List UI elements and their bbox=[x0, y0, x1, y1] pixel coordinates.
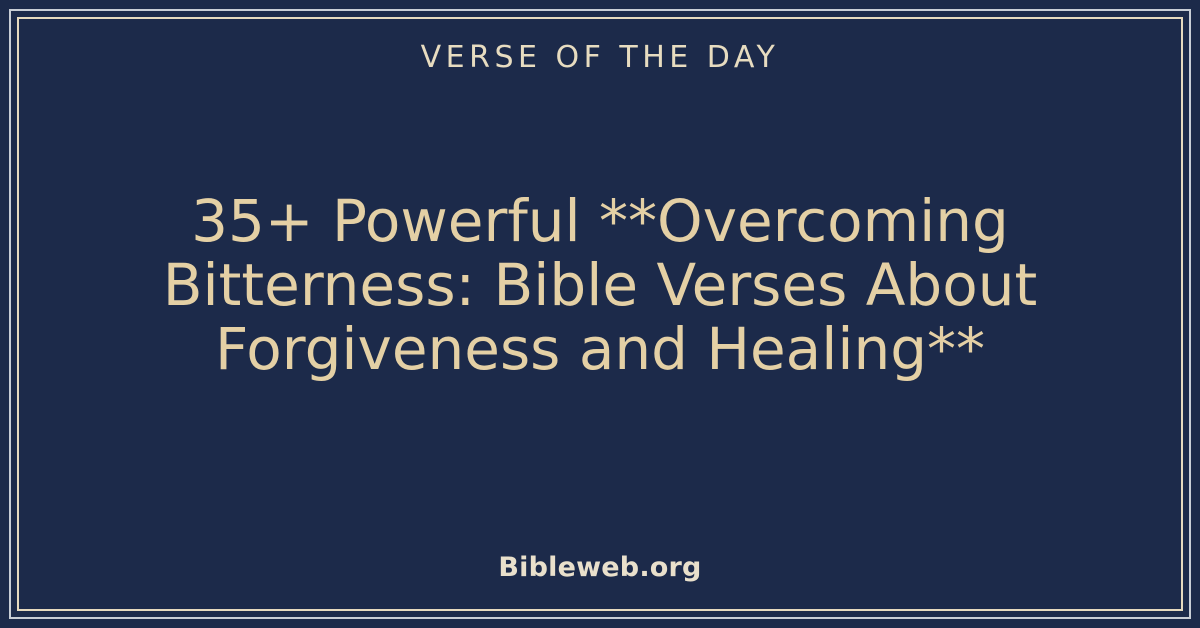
eyebrow-label: VERSE OF THE DAY bbox=[421, 43, 780, 73]
title-container: 35+ Powerful **Overcoming Bitterness: Bi… bbox=[19, 73, 1181, 554]
verse-of-the-day-card: VERSE OF THE DAY 35+ Powerful **Overcomi… bbox=[0, 0, 1200, 628]
site-attribution: Bibleweb.org bbox=[498, 554, 701, 581]
card-content: VERSE OF THE DAY 35+ Powerful **Overcomi… bbox=[19, 19, 1181, 609]
page-title: 35+ Powerful **Overcoming Bitterness: Bi… bbox=[100, 189, 1100, 381]
